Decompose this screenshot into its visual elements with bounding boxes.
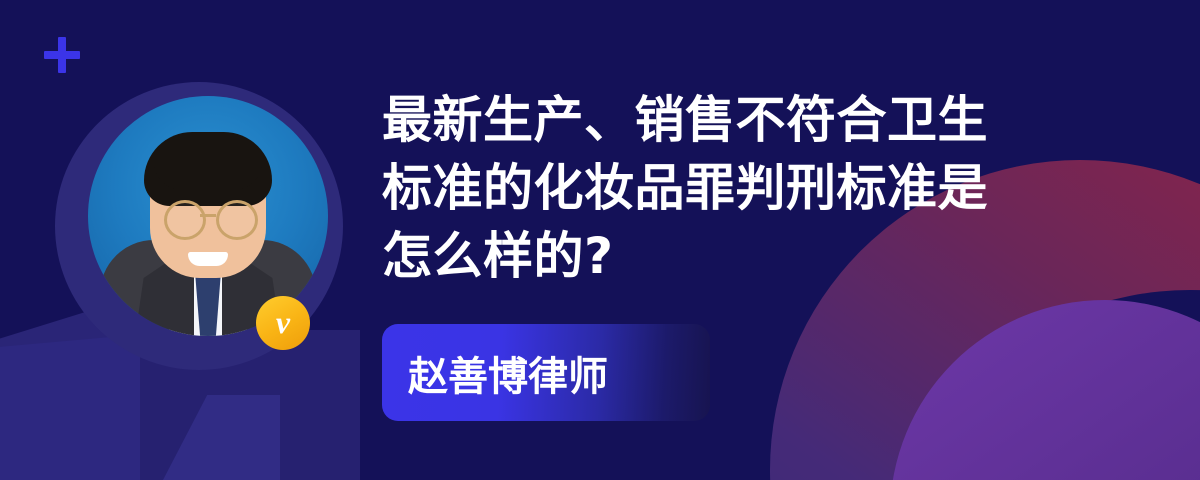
plus-icon [44,37,80,73]
verified-badge-glyph: v [276,306,290,338]
portrait-smile [188,252,228,266]
decor-polygon-c [150,395,280,480]
content-column: 最新生产、销售不符合卫生标准的化妆品罪判刑标准是怎么样的? [382,86,1062,290]
portrait-glasses-bridge [200,214,216,217]
portrait-hair [144,132,272,206]
portrait-glasses-right [216,200,258,240]
lawyer-name-button[interactable]: 赵善博律师 [382,324,710,421]
verified-badge-icon: v [256,296,310,350]
portrait-glasses-left [164,200,206,240]
lawyer-qa-banner: v 最新生产、销售不符合卫生标准的化妆品罪判刑标准是怎么样的? 赵善博律师 [0,0,1200,480]
decor-arc-mask [880,290,1200,480]
decor-purple-blob [890,300,1200,480]
page-title: 最新生产、销售不符合卫生标准的化妆品罪判刑标准是怎么样的? [382,86,1022,290]
avatar: v [55,82,343,370]
